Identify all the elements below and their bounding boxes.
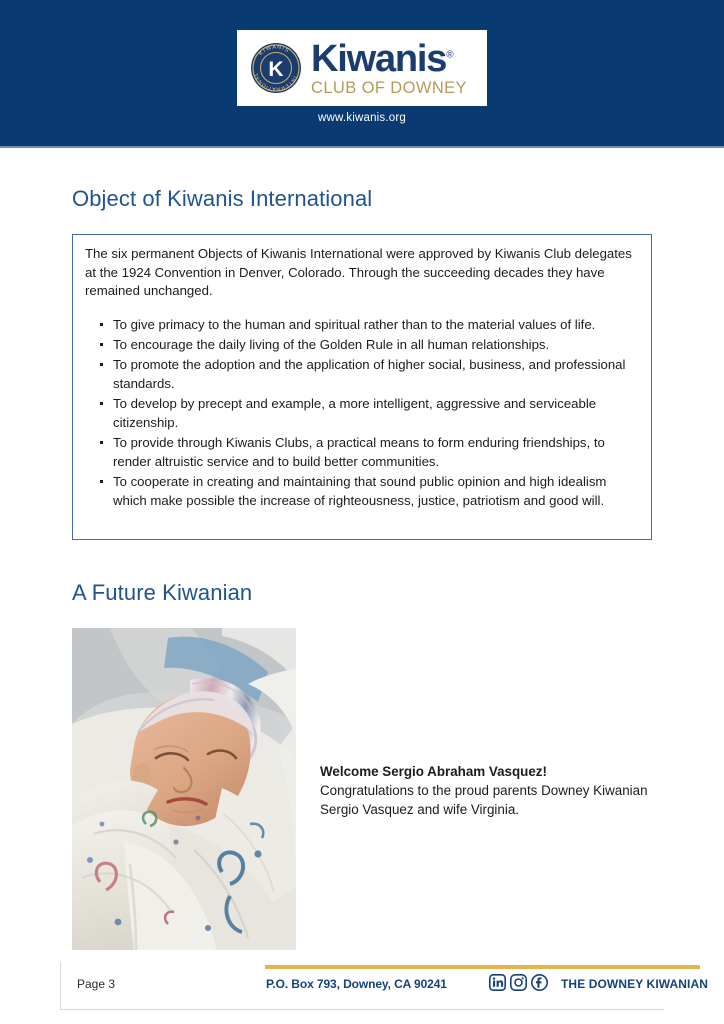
kiwanis-logo: K KIWANIS INTERNATIONAL Kiwanis® CLUB OF…: [237, 30, 487, 106]
list-item: To encourage the daily living of the Gol…: [113, 335, 631, 354]
kiwanis-seal-icon: K KIWANIS INTERNATIONAL: [250, 42, 302, 94]
list-item: To cooperate in creating and maintaining…: [113, 472, 631, 510]
linkedin-icon[interactable]: [489, 974, 506, 996]
object-intro-text: The six permanent Objects of Kiwanis Int…: [85, 245, 637, 301]
header-website-url[interactable]: www.kiwanis.org: [0, 112, 724, 124]
logo-wordmark: Kiwanis® CLUB OF DOWNEY: [311, 40, 467, 97]
instagram-icon[interactable]: [510, 974, 527, 996]
object-box: The six permanent Objects of Kiwanis Int…: [72, 234, 652, 540]
footer-address: P.O. Box 793, Downey, CA 90241: [266, 977, 447, 991]
list-item: To develop by precept and example, a mor…: [113, 394, 631, 432]
logo-subtitle: CLUB OF DOWNEY: [311, 80, 467, 97]
page-title-future-kiwanian: A Future Kiwanian: [72, 580, 252, 606]
page-frame-bottom: [60, 1009, 664, 1010]
object-list: To give primacy to the human and spiritu…: [85, 315, 637, 510]
footer-gold-rule: [265, 965, 700, 969]
caption-title: Welcome Sergio Abraham Vasquez!: [320, 762, 650, 781]
header-band-edge: [0, 146, 724, 148]
logo-wordmark-label: Kiwanis: [311, 38, 446, 80]
footer-social-links: [489, 974, 548, 996]
list-item: To provide through Kiwanis Clubs, a prac…: [113, 433, 631, 471]
photo-caption: Welcome Sergio Abraham Vasquez! Congratu…: [320, 762, 650, 819]
list-item: To promote the adoption and the applicat…: [113, 355, 631, 393]
newborn-baby-photo: [72, 628, 296, 950]
footer-brand: THE DOWNEY KIWANIAN: [561, 977, 708, 991]
caption-body: Congratulations to the proud parents Dow…: [320, 781, 650, 819]
page-number: Page 3: [77, 977, 115, 991]
registered-mark-icon: ®: [446, 49, 453, 60]
page-title-object: Object of Kiwanis International: [72, 186, 372, 212]
facebook-icon[interactable]: [531, 974, 548, 996]
page-frame-left: [60, 962, 61, 1009]
list-item: To give primacy to the human and spiritu…: [113, 315, 631, 334]
svg-text:K: K: [268, 58, 283, 81]
logo-wordmark-text: Kiwanis®: [311, 40, 467, 78]
